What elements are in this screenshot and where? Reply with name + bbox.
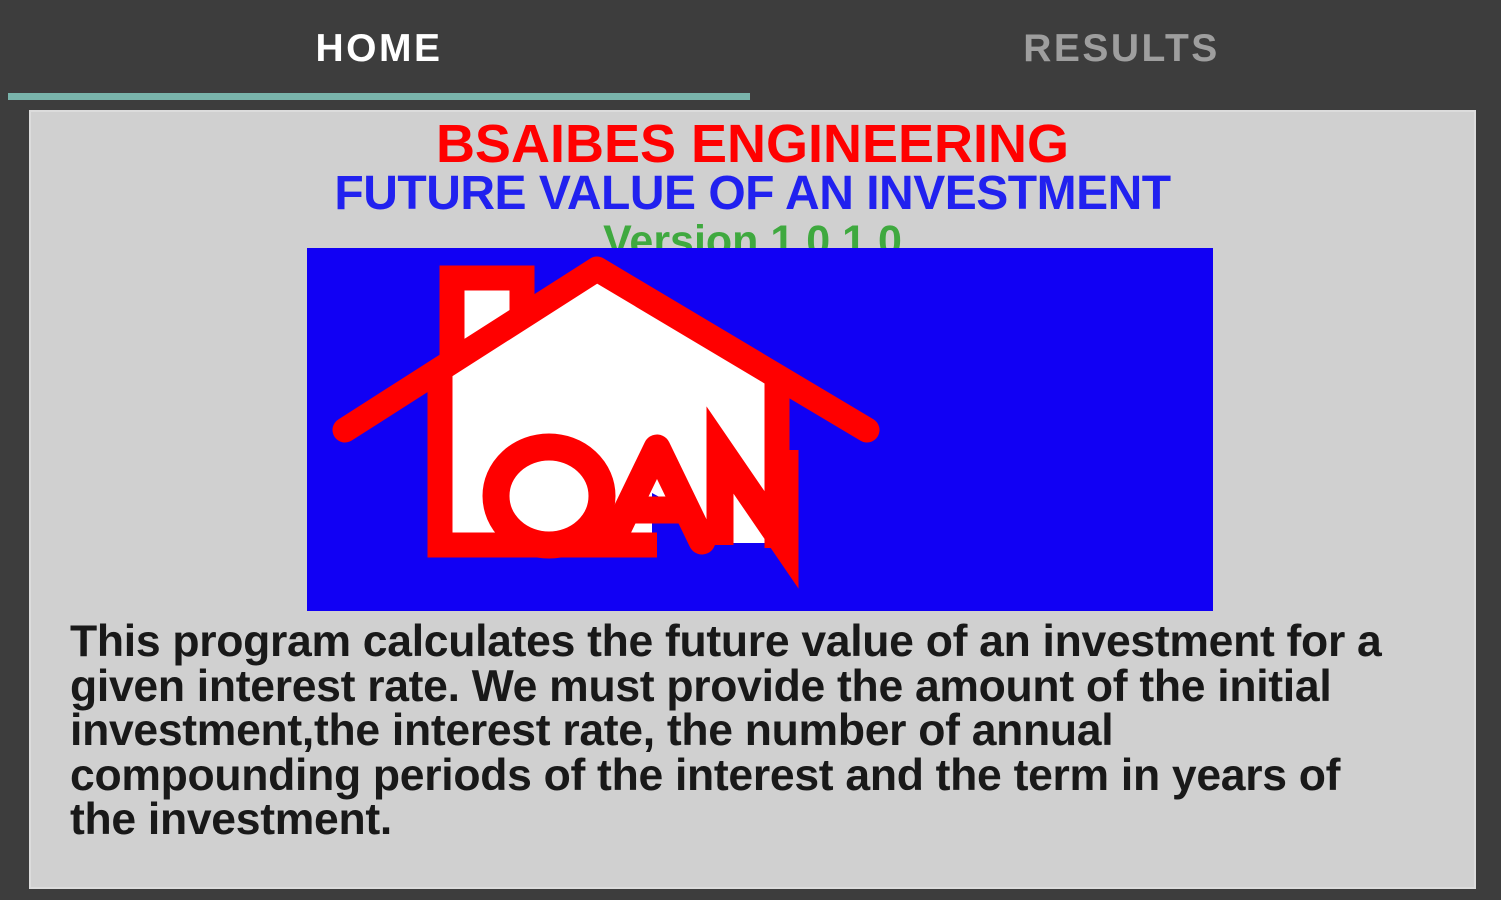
tab-home[interactable]: HOME — [8, 0, 750, 97]
tab-bar: HOME RESULTS — [0, 0, 1501, 104]
description-text: This program calculates the future value… — [70, 620, 1410, 843]
oan-house-logo-icon — [307, 248, 1213, 611]
company-title: BSAIBES ENGINEERING — [31, 117, 1474, 171]
tab-results[interactable]: RESULTS — [750, 0, 1493, 97]
home-content-card: BSAIBES ENGINEERING FUTURE VALUE OF AN I… — [29, 110, 1476, 889]
tab-home-label: HOME — [316, 29, 443, 68]
tab-results-label: RESULTS — [1023, 29, 1220, 68]
app-title: FUTURE VALUE OF AN INVESTMENT — [31, 170, 1474, 218]
oan-house-logo-svg — [307, 248, 1213, 611]
active-tab-indicator — [8, 93, 750, 100]
